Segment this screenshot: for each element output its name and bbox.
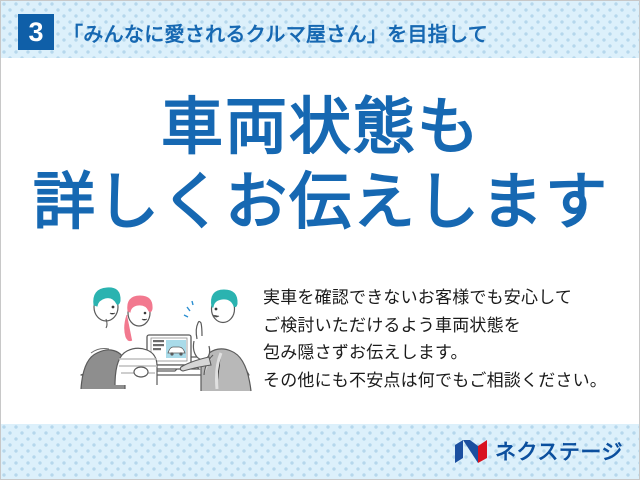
header-band: 3 「みんなに愛されるクルマ屋さん」を目指して — [1, 1, 640, 58]
body-copy: 実車を確認できないお客様でも安心して ご検討いただけるよう車両状態を 包み隠さず… — [263, 284, 623, 394]
advertisement-banner: 3 「みんなに愛されるクルマ屋さん」を目指して 車両状態も 詳しくお伝えします — [0, 0, 640, 480]
headline-line-1: 車両状態も — [1, 93, 640, 162]
page-headline: 車両状態も 詳しくお伝えします — [1, 93, 640, 238]
body-copy-line: 包み隠さずお伝えします。 — [263, 339, 623, 367]
step-number-badge: 3 — [18, 14, 54, 50]
body-copy-line: 実車を確認できないお客様でも安心して — [263, 284, 623, 312]
consultation-scene-illustration — [63, 279, 253, 395]
brand-name: ネクステージ — [495, 436, 623, 466]
body-copy-line: ご検討いただけるよう車両状態を — [263, 312, 623, 340]
brand-logo: ネクステージ — [454, 437, 623, 465]
body-copy-line: その他にも不安点は何でもご相談ください。 — [263, 367, 623, 395]
footer-band: ネクステージ — [1, 424, 640, 479]
illustration-svg — [63, 279, 253, 395]
header-title: 「みんなに愛されるクルマ屋さん」を目指して — [63, 14, 488, 50]
headline-line-2: 詳しくお伝えします — [1, 168, 640, 237]
nextage-n-mark-icon — [454, 439, 488, 464]
idea-sparkle-icon — [184, 301, 193, 317]
